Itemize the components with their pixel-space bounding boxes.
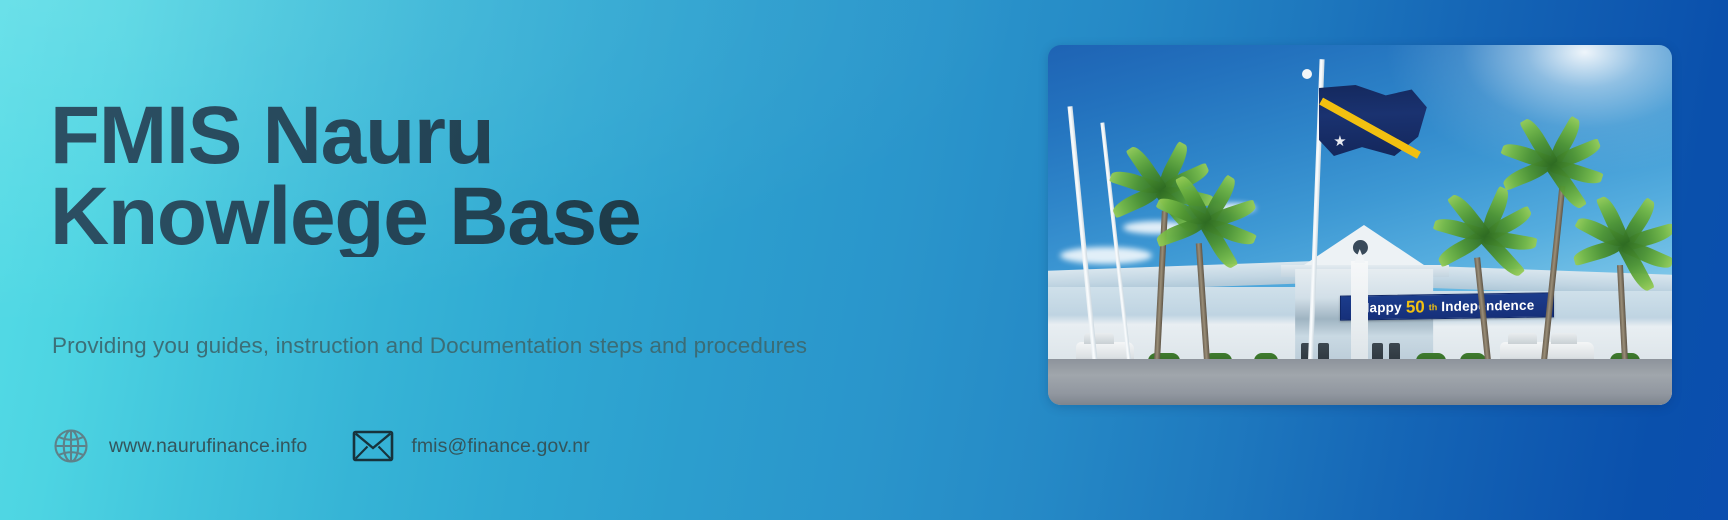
contact-email[interactable]: fmis@finance.gov.nr bbox=[352, 425, 590, 467]
contact-row: www.naurufinance.info fmis@finance.gov.n… bbox=[50, 425, 635, 467]
hero-photo: Happy 50 th Independence bbox=[1048, 45, 1672, 405]
globe-icon bbox=[50, 425, 92, 467]
banner-ordinal-suffix: th bbox=[1429, 302, 1438, 312]
envelope-icon bbox=[352, 425, 394, 467]
hero-banner: FMIS Nauru Knowlege Base Providing you g… bbox=[0, 0, 1728, 520]
email-address-label: fmis@finance.gov.nr bbox=[411, 435, 590, 458]
forecourt-ground bbox=[1048, 359, 1672, 405]
palm-crown bbox=[1504, 127, 1600, 189]
palm-crown bbox=[1576, 207, 1672, 269]
page-title: FMIS Nauru Knowlege Base bbox=[50, 95, 930, 257]
page-subtitle: Providing you guides, instruction and Do… bbox=[52, 333, 807, 359]
banner-text-column: FMIS Nauru Knowlege Base Providing you g… bbox=[50, 0, 950, 520]
independence-banner-sign: Happy 50 th Independence bbox=[1340, 292, 1554, 320]
nauru-parliament-photo: Happy 50 th Independence bbox=[1048, 45, 1672, 405]
banner-number: 50 bbox=[1406, 297, 1425, 317]
flagpole-finial bbox=[1302, 69, 1312, 79]
banner-word-independence: Independence bbox=[1441, 298, 1534, 314]
contact-website[interactable]: www.naurufinance.info bbox=[50, 425, 307, 467]
palm-crown bbox=[1437, 199, 1533, 261]
website-url-label: www.naurufinance.info bbox=[109, 435, 307, 458]
palm-crown bbox=[1158, 185, 1254, 247]
nauru-flag bbox=[1319, 85, 1427, 159]
cloud bbox=[1060, 247, 1152, 264]
